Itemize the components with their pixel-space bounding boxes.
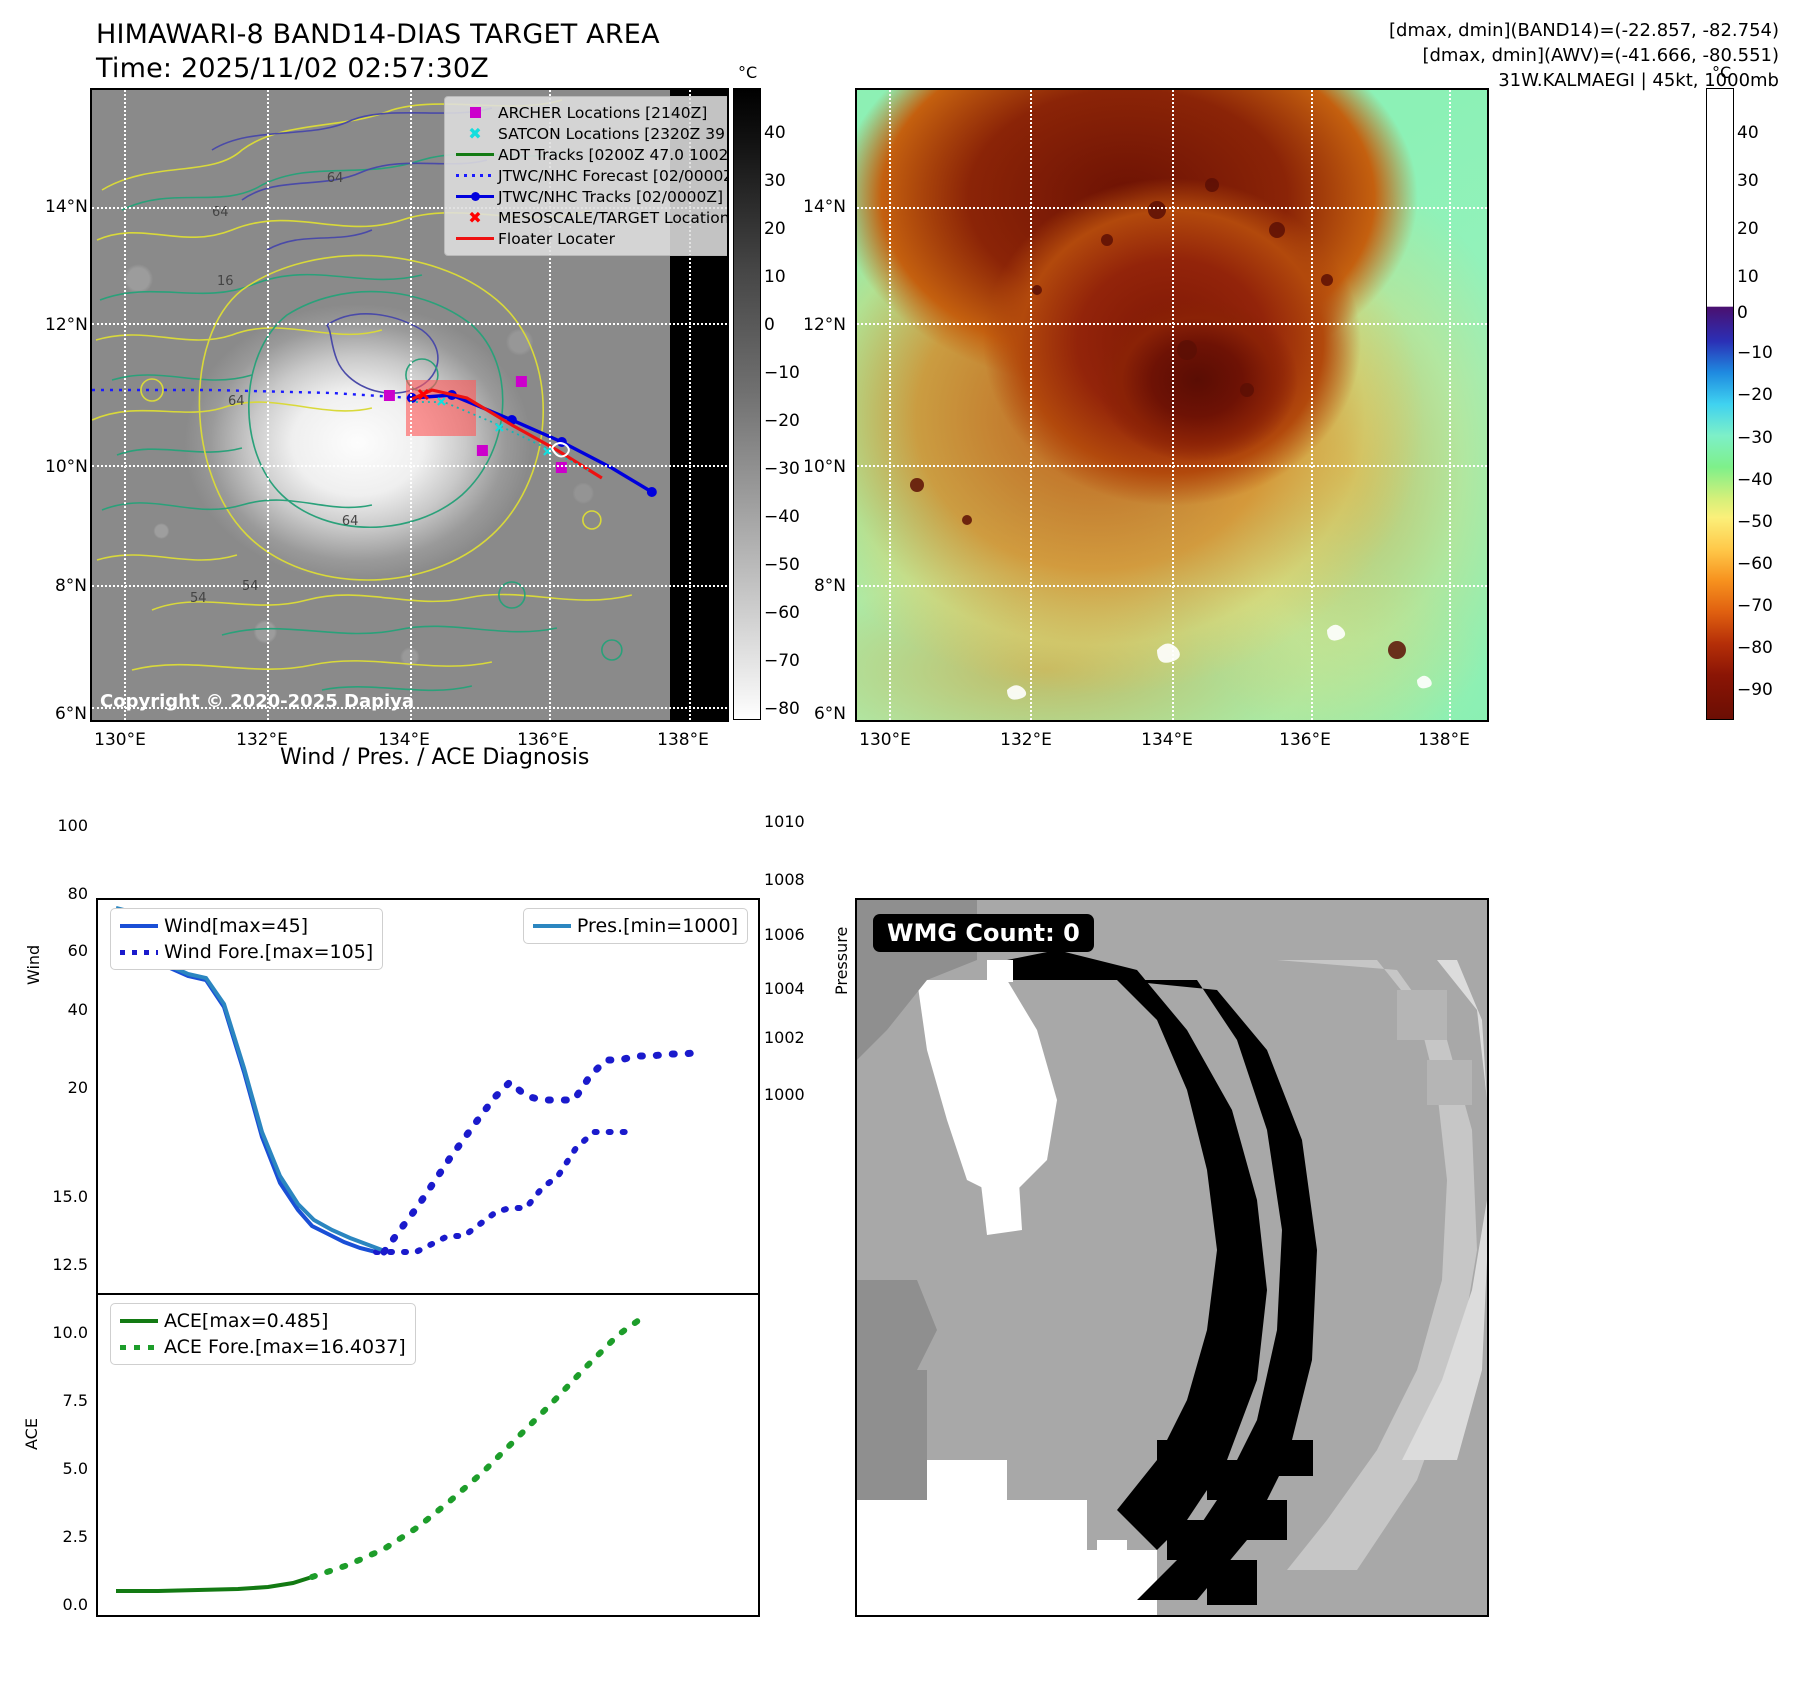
ace-legend: ACE[max=0.485] ACE Fore.[max=16.4037] xyxy=(110,1303,416,1365)
legend-label: JTWC/NHC Forecast [02/0000Z] xyxy=(498,167,729,185)
legend-label: ADT Tracks [0200Z 47.0 1002.9] xyxy=(498,146,729,164)
blue-solid-line-icon xyxy=(120,924,164,928)
title-line-2: Time: 2025/11/02 02:57:30Z xyxy=(96,52,660,86)
pressure-forecast-line xyxy=(384,1052,702,1252)
legend-item-wind: Wind[max=45] xyxy=(120,913,373,939)
legend-item-wind-forecast: Wind Fore.[max=105] xyxy=(120,939,373,965)
red-x-marker-icon: ✖ xyxy=(452,213,498,223)
jtwc-forecast-track xyxy=(92,390,412,398)
green-solid-line-icon xyxy=(452,153,498,156)
magenta-square-marker-icon xyxy=(452,107,498,118)
legend-item-pressure: Pres.[min=1000] xyxy=(533,913,738,939)
blue-dotted-line-icon xyxy=(120,950,164,955)
title-line-1: HIMAWARI-8 BAND14-DIAS TARGET AREA xyxy=(96,18,660,52)
copyright-notice: Copyright © 2020-2025 Dapiya xyxy=(100,691,414,712)
ace-chart[interactable]: ACE[max=0.485] ACE Fore.[max=16.4037] xyxy=(96,1293,760,1617)
cyan-x-marker-icon: ✖ xyxy=(452,129,498,139)
ir-colorbar-title: °C xyxy=(738,63,757,82)
wmg-count-badge: WMG Count: 0 xyxy=(873,914,1094,952)
legend-label: SATCON Locations [2320Z 39 1003] xyxy=(498,125,729,143)
legend-label: Floater Locater xyxy=(498,230,615,248)
legend-item-jtwc-tracks: JTWC/NHC Tracks [02/0000Z] xyxy=(452,186,727,207)
awv-colorbar-title: °C xyxy=(1712,63,1731,82)
blue-line-dot-marker-icon xyxy=(452,195,498,198)
blue-dotted-line-icon xyxy=(452,174,498,177)
legend-label: JTWC/NHC Tracks [02/0000Z] xyxy=(498,188,723,206)
ir-colorbar[interactable] xyxy=(733,88,761,720)
steelblue-solid-line-icon xyxy=(533,924,577,928)
green-dotted-line-icon xyxy=(120,1345,164,1350)
legend-item-jtwc-forecast: JTWC/NHC Forecast [02/0000Z] xyxy=(452,165,727,186)
legend-item-archer: ARCHER Locations [2140Z] xyxy=(452,102,727,123)
legend-item-floater: Floater Locater xyxy=(452,228,727,249)
wind-legend: Wind[max=45] Wind Fore.[max=105] xyxy=(110,908,383,970)
wind-axis-label: Wind xyxy=(24,945,43,985)
page-title: HIMAWARI-8 BAND14-DIAS TARGET AREA Time:… xyxy=(96,18,660,86)
satcon-track xyxy=(410,402,592,472)
legend-item-mesoscale: ✖ MESOSCALE/TARGET Location xyxy=(452,207,727,228)
diagnosis-title: Wind / Pres. / ACE Diagnosis xyxy=(280,745,589,770)
legend-label: ACE[max=0.485] xyxy=(164,1310,328,1332)
jtwc-track-points xyxy=(407,390,657,497)
ace-observed-line xyxy=(116,1577,312,1591)
pressure-axis-label: Pressure xyxy=(832,927,851,995)
pressure-legend: Pres.[min=1000] xyxy=(523,908,748,944)
dmax-dmin-band14: [dmax, dmin](BAND14)=(-22.857, -82.754) xyxy=(1389,18,1779,43)
legend-label: ARCHER Locations [2140Z] xyxy=(498,104,707,122)
legend-label: Pres.[min=1000] xyxy=(577,915,738,937)
legend-label: Wind[max=45] xyxy=(164,915,308,937)
jtwc-best-track xyxy=(412,395,652,492)
green-solid-line-icon xyxy=(120,1319,164,1323)
legend-label: MESOSCALE/TARGET Location xyxy=(498,209,729,227)
wmg-cloud-classification-image[interactable]: WMG Count: 0 xyxy=(855,898,1489,1617)
legend-item-ace-forecast: ACE Fore.[max=16.4037] xyxy=(120,1334,406,1360)
awv-satellite-image[interactable] xyxy=(855,88,1489,722)
legend-item-adt: ADT Tracks [0200Z 47.0 1002.9] xyxy=(452,144,727,165)
legend-label: ACE Fore.[max=16.4037] xyxy=(164,1336,406,1358)
legend-item-ace: ACE[max=0.485] xyxy=(120,1308,406,1334)
wind-pressure-chart[interactable]: Wind[max=45] Wind Fore.[max=105] Pres.[m… xyxy=(96,898,760,1297)
ir-map-legend: ARCHER Locations [2140Z] ✖ SATCON Locati… xyxy=(444,96,729,256)
legend-item-satcon: ✖ SATCON Locations [2320Z 39 1003] xyxy=(452,123,727,144)
awv-colorbar[interactable] xyxy=(1706,88,1734,720)
ace-axis-label: ACE xyxy=(22,1418,41,1450)
ir-satellite-image[interactable]: 64 64 16 64 54 54 64 xyxy=(90,88,729,722)
wmg-pixel-map xyxy=(857,900,1487,1615)
satcon-location-markers xyxy=(438,398,551,455)
red-solid-line-icon xyxy=(452,237,498,240)
legend-label: Wind Fore.[max=105] xyxy=(164,941,373,963)
